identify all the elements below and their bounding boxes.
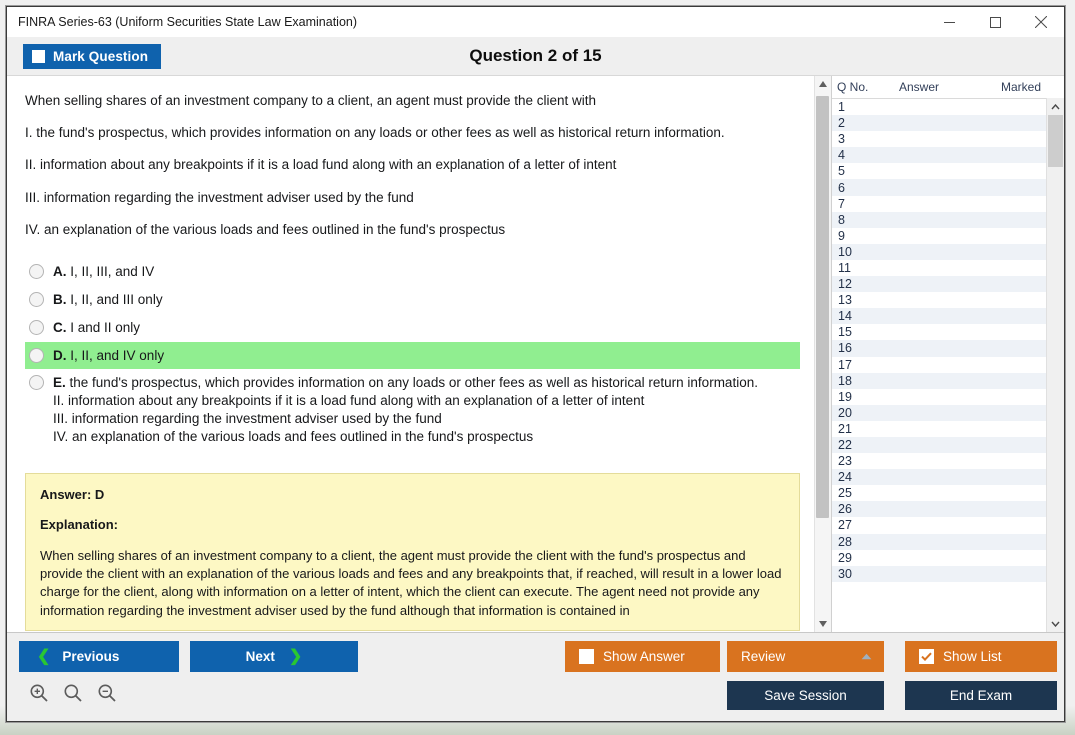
option-c-body: I and II only bbox=[70, 320, 140, 335]
table-row[interactable]: 10 bbox=[832, 244, 1046, 260]
show-answer-checkbox-icon bbox=[579, 649, 594, 664]
table-row[interactable]: 17 bbox=[832, 357, 1046, 373]
option-d-text: D. I, II, and IV only bbox=[53, 347, 164, 365]
next-button[interactable]: Next ❯ bbox=[190, 641, 358, 672]
question-item-3: III. information regarding the investmen… bbox=[25, 189, 800, 207]
table-row[interactable]: 29 bbox=[832, 550, 1046, 566]
row-question-number: 22 bbox=[838, 438, 898, 452]
row-question-number: 24 bbox=[838, 470, 898, 484]
show-list-label: Show List bbox=[943, 649, 1002, 664]
content-area: When selling shares of an investment com… bbox=[7, 76, 1064, 633]
mark-question-checkbox-icon bbox=[32, 50, 45, 63]
option-c-text: C. I and II only bbox=[53, 319, 140, 337]
option-d-body: I, II, and IV only bbox=[70, 348, 164, 363]
question-list-panel: Q No. Answer Marked 12345678910111213141… bbox=[831, 76, 1064, 632]
row-question-number: 17 bbox=[838, 358, 898, 372]
end-exam-label: End Exam bbox=[950, 688, 1012, 703]
table-row[interactable]: 26 bbox=[832, 501, 1046, 517]
row-question-number: 5 bbox=[838, 164, 898, 178]
option-e-body: the fund's prospectus, which provides in… bbox=[70, 375, 758, 390]
previous-label: Previous bbox=[62, 649, 119, 664]
show-list-checkbox-icon bbox=[919, 649, 934, 664]
row-question-number: 16 bbox=[838, 341, 898, 355]
minimize-icon[interactable] bbox=[926, 7, 972, 37]
table-row[interactable]: 28 bbox=[832, 534, 1046, 550]
table-row[interactable]: 1 bbox=[832, 99, 1046, 115]
option-b-letter: B. bbox=[53, 292, 67, 307]
exam-window: FINRA Series-63 (Uniform Securities Stat… bbox=[6, 6, 1065, 722]
option-d-letter: D. bbox=[53, 348, 67, 363]
table-row[interactable]: 21 bbox=[832, 421, 1046, 437]
explanation-label: Explanation: bbox=[40, 516, 785, 534]
radio-icon[interactable] bbox=[29, 264, 44, 279]
question-list-rows: 1234567891011121314151617181920212223242… bbox=[832, 98, 1046, 632]
table-row[interactable]: 25 bbox=[832, 485, 1046, 501]
question-list-scrollbar[interactable] bbox=[1046, 98, 1064, 632]
option-e-letter: E. bbox=[53, 375, 66, 390]
row-question-number: 3 bbox=[838, 132, 898, 146]
row-question-number: 13 bbox=[838, 293, 898, 307]
question-item-2: II. information about any breakpoints if… bbox=[25, 156, 800, 174]
scroll-up-icon[interactable] bbox=[815, 76, 831, 92]
show-list-button[interactable]: Show List bbox=[905, 641, 1057, 672]
table-row[interactable]: 3 bbox=[832, 131, 1046, 147]
chevron-right-icon: ❯ bbox=[289, 649, 302, 665]
next-label: Next bbox=[246, 649, 275, 664]
title-bar: FINRA Series-63 (Uniform Securities Stat… bbox=[7, 7, 1064, 37]
option-e-text: E. the fund's prospectus, which provides… bbox=[53, 374, 758, 445]
table-row[interactable]: 18 bbox=[832, 373, 1046, 389]
row-question-number: 14 bbox=[838, 309, 898, 323]
option-b-text: B. I, II, and III only bbox=[53, 291, 163, 309]
end-exam-button[interactable]: End Exam bbox=[905, 681, 1057, 710]
zoom-controls bbox=[29, 683, 117, 708]
radio-icon[interactable] bbox=[29, 292, 44, 307]
row-question-number: 4 bbox=[838, 148, 898, 162]
row-question-number: 1 bbox=[838, 100, 898, 114]
row-question-number: 21 bbox=[838, 422, 898, 436]
list-scroll-up-icon[interactable] bbox=[1047, 98, 1064, 115]
table-row[interactable]: 24 bbox=[832, 469, 1046, 485]
show-answer-label: Show Answer bbox=[603, 649, 685, 664]
row-question-number: 8 bbox=[838, 213, 898, 227]
column-header-marked: Marked bbox=[977, 80, 1047, 94]
option-d[interactable]: D. I, II, and IV only bbox=[25, 342, 800, 370]
row-question-number: 28 bbox=[838, 535, 898, 549]
mark-question-label: Mark Question bbox=[53, 49, 148, 64]
list-scrollbar-thumb[interactable] bbox=[1048, 115, 1063, 167]
zoom-reset-icon[interactable] bbox=[63, 683, 83, 708]
question-pane-scrollbar[interactable] bbox=[814, 76, 831, 632]
question-list-header: Q No. Answer Marked bbox=[832, 76, 1064, 98]
option-c[interactable]: C. I and II only bbox=[25, 314, 800, 342]
question-scroll-content: When selling shares of an investment com… bbox=[7, 76, 814, 632]
previous-button[interactable]: ❮ Previous bbox=[19, 641, 179, 672]
table-row[interactable]: 11 bbox=[832, 260, 1046, 276]
scrollbar-track[interactable] bbox=[815, 92, 831, 616]
table-row[interactable]: 7 bbox=[832, 196, 1046, 212]
table-row[interactable]: 9 bbox=[832, 228, 1046, 244]
option-b-body: I, II, and III only bbox=[70, 292, 162, 307]
question-item-1: I. the fund's prospectus, which provides… bbox=[25, 124, 800, 142]
table-row[interactable]: 8 bbox=[832, 212, 1046, 228]
page-title: Question 2 of 15 bbox=[7, 46, 1064, 66]
table-row[interactable]: 12 bbox=[832, 276, 1046, 292]
table-row[interactable]: 30 bbox=[832, 566, 1046, 582]
show-answer-button[interactable]: Show Answer bbox=[565, 641, 720, 672]
review-dropdown-button[interactable]: Review bbox=[727, 641, 884, 672]
table-row[interactable]: 2 bbox=[832, 115, 1046, 131]
table-row[interactable]: 23 bbox=[832, 453, 1046, 469]
row-question-number: 11 bbox=[838, 261, 898, 275]
table-row[interactable]: 27 bbox=[832, 517, 1046, 533]
option-a-body: I, II, III, and IV bbox=[70, 264, 154, 279]
option-b[interactable]: B. I, II, and III only bbox=[25, 286, 800, 314]
review-label: Review bbox=[741, 649, 785, 664]
row-question-number: 9 bbox=[838, 229, 898, 243]
radio-icon[interactable] bbox=[29, 320, 44, 335]
header-bar: Mark Question Question 2 of 15 bbox=[7, 37, 1064, 76]
option-a-text: A. I, II, III, and IV bbox=[53, 263, 154, 281]
option-a[interactable]: A. I, II, III, and IV bbox=[25, 258, 800, 286]
option-a-letter: A. bbox=[53, 264, 67, 279]
column-header-qno: Q No. bbox=[837, 80, 899, 94]
footer-bar: ❮ Previous Next ❯ Show Answer Review bbox=[7, 633, 1064, 721]
zoom-out-icon[interactable] bbox=[97, 683, 117, 708]
option-e[interactable]: E. the fund's prospectus, which provides… bbox=[25, 369, 800, 450]
row-question-number: 23 bbox=[838, 454, 898, 468]
row-question-number: 30 bbox=[838, 567, 898, 581]
radio-icon[interactable] bbox=[29, 375, 44, 390]
window-title: FINRA Series-63 (Uniform Securities Stat… bbox=[7, 15, 357, 29]
option-e-line-3: III. information regarding the investmen… bbox=[53, 410, 758, 428]
maximize-icon[interactable] bbox=[972, 7, 1018, 37]
zoom-in-icon[interactable] bbox=[29, 683, 49, 708]
chevron-left-icon: ❮ bbox=[37, 649, 50, 665]
row-question-number: 18 bbox=[838, 374, 898, 388]
table-row[interactable]: 4 bbox=[832, 147, 1046, 163]
table-row[interactable]: 20 bbox=[832, 405, 1046, 421]
explanation-text: When selling shares of an investment com… bbox=[40, 547, 785, 621]
scrollbar-thumb[interactable] bbox=[816, 96, 829, 518]
row-question-number: 25 bbox=[838, 486, 898, 500]
answer-options: A. I, II, III, and IV B. I, II, and III … bbox=[25, 258, 800, 451]
table-row[interactable]: 16 bbox=[832, 340, 1046, 356]
answer-explanation-box: Answer: D Explanation: When selling shar… bbox=[25, 473, 800, 632]
table-row[interactable]: 15 bbox=[832, 324, 1046, 340]
question-item-4: IV. an explanation of the various loads … bbox=[25, 221, 800, 239]
window-controls bbox=[926, 7, 1064, 37]
row-question-number: 15 bbox=[838, 325, 898, 339]
save-session-button[interactable]: Save Session bbox=[727, 681, 884, 710]
question-pane: When selling shares of an investment com… bbox=[7, 76, 814, 632]
table-row[interactable]: 19 bbox=[832, 389, 1046, 405]
row-question-number: 26 bbox=[838, 502, 898, 516]
option-e-line-4: IV. an explanation of the various loads … bbox=[53, 428, 758, 446]
row-question-number: 10 bbox=[838, 245, 898, 259]
row-question-number: 2 bbox=[838, 116, 898, 130]
option-c-letter: C. bbox=[53, 320, 67, 335]
answer-label: Answer: D bbox=[40, 486, 785, 504]
mark-question-button[interactable]: Mark Question bbox=[23, 44, 161, 69]
row-question-number: 19 bbox=[838, 390, 898, 404]
table-row[interactable]: 5 bbox=[832, 163, 1046, 179]
table-row[interactable]: 13 bbox=[832, 292, 1046, 308]
column-header-answer: Answer bbox=[899, 80, 977, 94]
row-question-number: 12 bbox=[838, 277, 898, 291]
save-session-label: Save Session bbox=[764, 688, 847, 703]
list-scrollbar-track[interactable] bbox=[1047, 115, 1064, 615]
row-question-number: 7 bbox=[838, 197, 898, 211]
list-scroll-down-icon[interactable] bbox=[1047, 615, 1064, 632]
table-row[interactable]: 6 bbox=[832, 179, 1046, 195]
table-row[interactable]: 14 bbox=[832, 308, 1046, 324]
row-question-number: 6 bbox=[838, 181, 898, 195]
question-stem: When selling shares of an investment com… bbox=[25, 92, 800, 110]
option-e-line-2: II. information about any breakpoints if… bbox=[53, 392, 758, 410]
chevron-up-icon bbox=[861, 653, 872, 660]
radio-icon[interactable] bbox=[29, 348, 44, 363]
row-question-number: 20 bbox=[838, 406, 898, 420]
question-list-body: 1234567891011121314151617181920212223242… bbox=[832, 98, 1064, 632]
row-question-number: 29 bbox=[838, 551, 898, 565]
table-row[interactable]: 22 bbox=[832, 437, 1046, 453]
close-icon[interactable] bbox=[1018, 7, 1064, 37]
scroll-down-icon[interactable] bbox=[815, 616, 831, 632]
row-question-number: 27 bbox=[838, 518, 898, 532]
